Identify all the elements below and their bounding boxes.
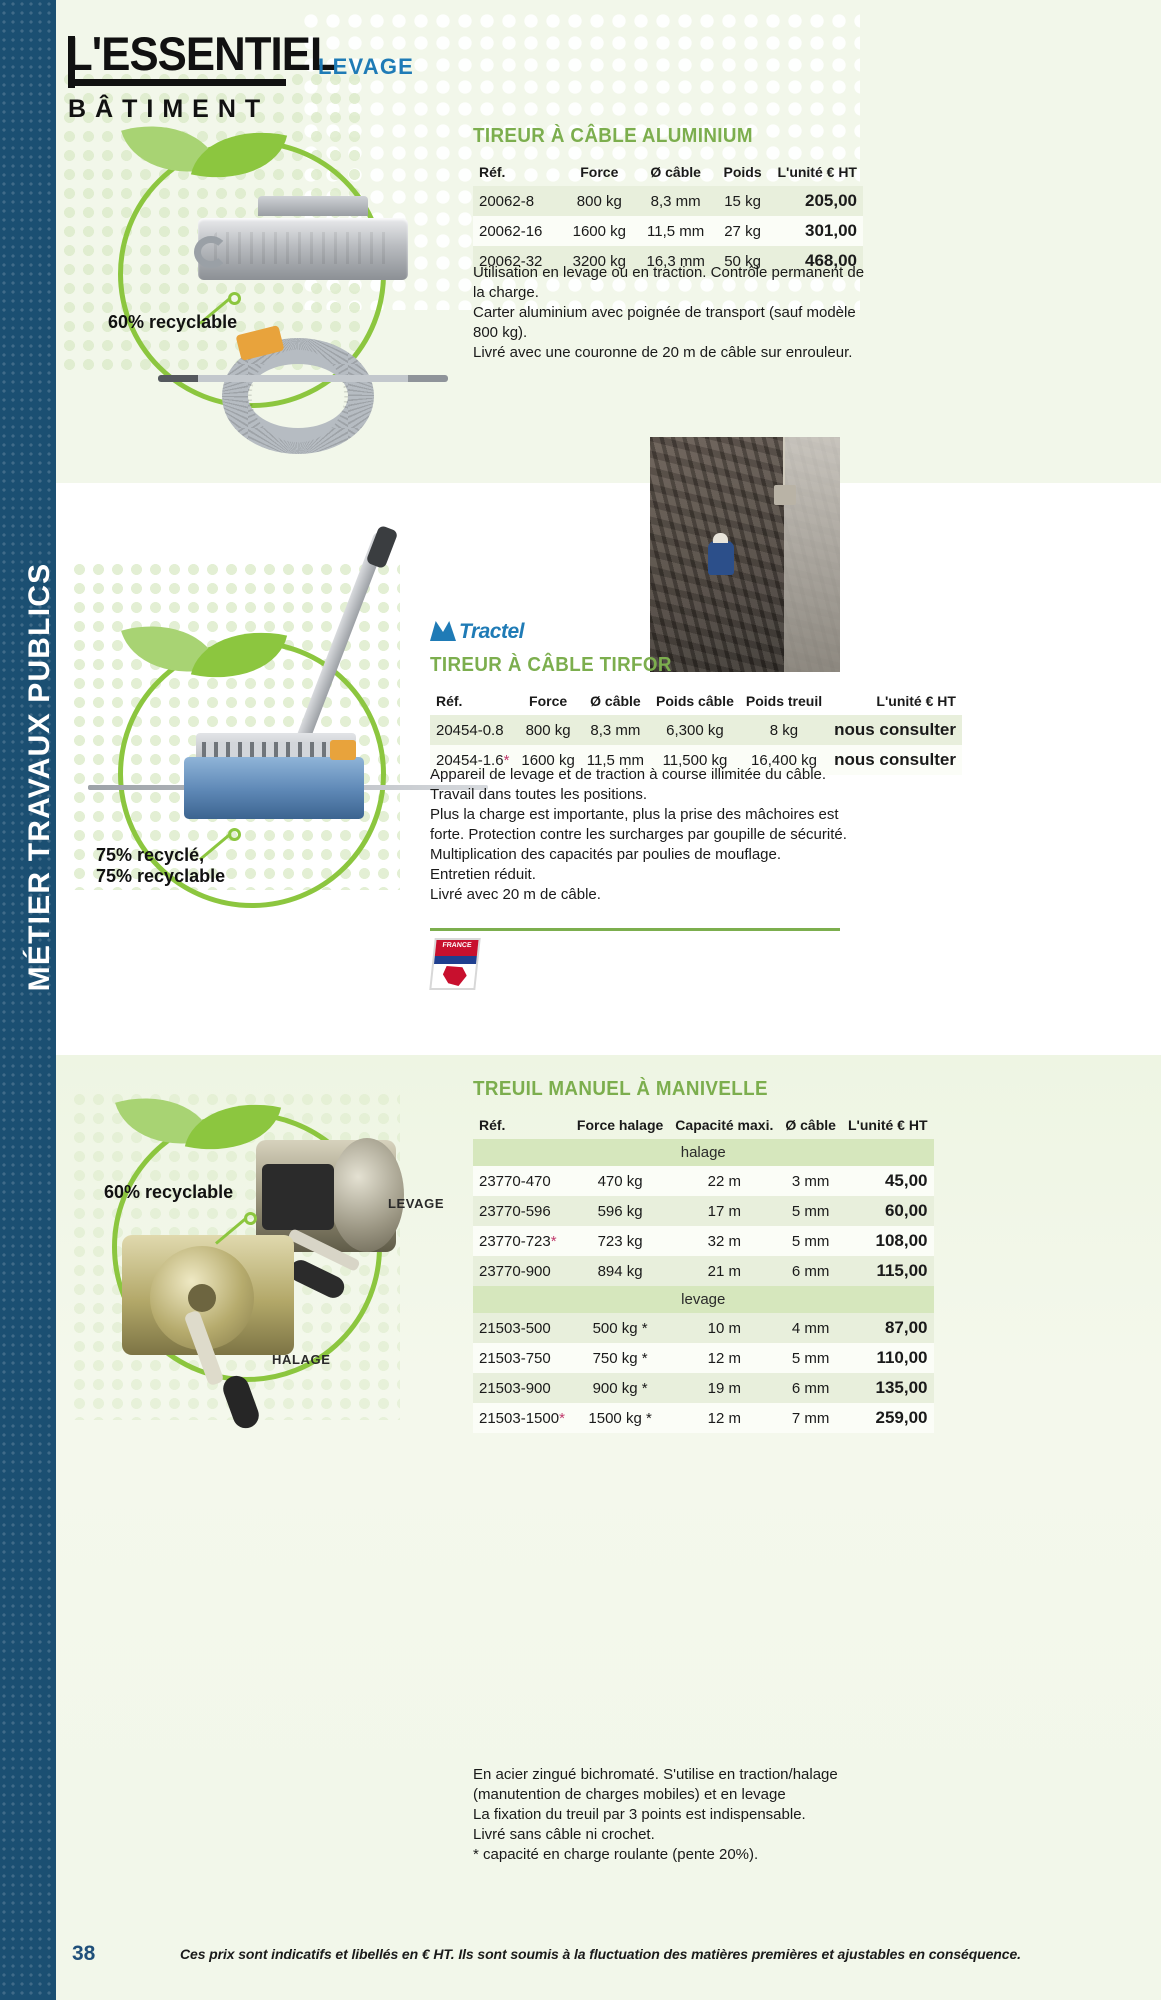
cell-ref-text: 23770-723 <box>479 1233 551 1250</box>
cell-diam: 8,3 mm <box>638 186 714 216</box>
cell-ref-text: 21503-1500 <box>479 1410 559 1427</box>
fr-logo-text: FRANCE <box>436 942 479 949</box>
image-caption-levage: LEVAGE <box>388 1196 444 1211</box>
table-row: 23770-470 470 kg 22 m 3 mm 45,00 <box>473 1166 934 1196</box>
group-label: levage <box>473 1286 934 1313</box>
table-group-row-halage: halage <box>473 1139 934 1166</box>
cell-ref: 21503-900 <box>473 1373 571 1403</box>
cell-price: 205,00 <box>771 186 863 216</box>
product-block-2: Tractel TIREUR À CÂBLE TIRFOR Réf. Force… <box>430 620 850 775</box>
made-in-france-logo: FRANCE <box>429 938 480 990</box>
brand-logo: L'ESSENTIEL BÂTIMENT <box>66 30 356 124</box>
cell-poids: 27 kg <box>714 216 772 246</box>
cell-force: 1500 kg * <box>571 1403 669 1433</box>
cell-force: 900 kg * <box>571 1373 669 1403</box>
spec-table-1: Réf. Force Ø câble Poids L'unité € HT 20… <box>473 160 863 276</box>
cell-diam: 7 mm <box>779 1403 842 1433</box>
cell-price: 87,00 <box>842 1313 934 1343</box>
cell-force: 470 kg <box>571 1166 669 1196</box>
cell-ref: 23770-900 <box>473 1256 571 1286</box>
page-category-label: LEVAGE <box>318 54 414 80</box>
col-poids: Poids <box>714 160 772 186</box>
product-block-1: TIREUR À CÂBLE ALUMINIUM Réf. Force Ø câ… <box>473 125 863 276</box>
cell-price: 259,00 <box>842 1403 934 1433</box>
logo-underline <box>68 79 286 86</box>
image-caption-halage: HALAGE <box>272 1352 331 1367</box>
cell-poids-cable: 6,300 kg <box>650 715 740 745</box>
desc-line: Entretien réduit. <box>430 865 855 885</box>
cell-diam: 4 mm <box>779 1313 842 1343</box>
cell-force: 800 kg <box>515 715 580 745</box>
desc-line: Livré avec 20 m de câble. <box>430 885 855 905</box>
eco-badge-2-line2: 75% recyclable <box>96 866 225 887</box>
logo-main-text: L'ESSENTIEL <box>66 30 336 77</box>
cell-diam: 6 mm <box>779 1373 842 1403</box>
cell-ref: 21503-750 <box>473 1343 571 1373</box>
col-capacite: Capacité maxi. <box>669 1113 779 1139</box>
cell-force: 894 kg <box>571 1256 669 1286</box>
cell-price: nous consulter <box>828 715 962 745</box>
desc-line: (manutention de charges mobiles) et en l… <box>473 1785 893 1805</box>
col-diam: Ø câble <box>638 160 714 186</box>
cell-diam: 3 mm <box>779 1166 842 1196</box>
table-header-row: Réf. Force halage Capacité maxi. Ø câble… <box>473 1113 934 1139</box>
cell-diam: 6 mm <box>779 1256 842 1286</box>
table-row: 20062-16 1600 kg 11,5 mm 27 kg 301,00 <box>473 216 863 246</box>
col-force: Force <box>515 689 580 715</box>
spec-table-2: Réf. Force Ø câble Poids câble Poids tre… <box>430 689 962 775</box>
eco-badge-2: 75% recyclé, 75% recyclable <box>96 845 225 887</box>
cell-poids-treuil: 8 kg <box>740 715 828 745</box>
cell-ref: 23770-596 <box>473 1196 571 1226</box>
table-header-row: Réf. Force Ø câble Poids câble Poids tre… <box>430 689 962 715</box>
col-price: L'unité € HT <box>771 160 863 186</box>
desc-line: En acier zingué bichromaté. S'utilise en… <box>473 1765 893 1785</box>
col-diam: Ø câble <box>581 689 650 715</box>
cell-ref: 20454-0.8 <box>430 715 515 745</box>
cell-price: 135,00 <box>842 1373 934 1403</box>
cell-force: 750 kg * <box>571 1343 669 1373</box>
desc-line: Carter aluminium avec poignée de transpo… <box>473 303 873 343</box>
table-row: 23770-596 596 kg 17 m 5 mm 60,00 <box>473 1196 934 1226</box>
cell-capacite: 21 m <box>669 1256 779 1286</box>
cell-ref: 21503-500 <box>473 1313 571 1343</box>
table-row: 23770-900 894 kg 21 m 6 mm 115,00 <box>473 1256 934 1286</box>
cell-ref: 21503-1500* <box>473 1403 571 1433</box>
cell-diam: 5 mm <box>779 1226 842 1256</box>
table-row: 21503-500 500 kg * 10 m 4 mm 87,00 <box>473 1313 934 1343</box>
footnote-star: * <box>559 1410 565 1427</box>
product-title-2: TIREUR À CÂBLE TIRFOR <box>430 654 825 677</box>
table-header-row: Réf. Force Ø câble Poids L'unité € HT <box>473 160 863 186</box>
col-force: Force <box>561 160 638 186</box>
logo-sub-text: BÂTIMENT <box>68 95 356 124</box>
footnote-star: * <box>551 1233 557 1250</box>
cell-ref: 23770-723* <box>473 1226 571 1256</box>
cell-price: 301,00 <box>771 216 863 246</box>
cell-capacite: 32 m <box>669 1226 779 1256</box>
product-title-3: TREUIL MANUEL À MANIVELLE <box>473 1078 849 1101</box>
cell-ref: 20062-8 <box>473 186 561 216</box>
eco-badge-2-line1: 75% recyclé, <box>96 845 225 866</box>
col-price: L'unité € HT <box>828 689 962 715</box>
fr-logo-hexagon-icon <box>442 966 468 986</box>
desc-line: Travail dans toutes les positions. <box>430 785 855 805</box>
table-row: 21503-750 750 kg * 12 m 5 mm 110,00 <box>473 1343 934 1373</box>
product-description-1: Utilisation en levage ou en traction. Co… <box>473 263 873 363</box>
col-ref: Réf. <box>473 160 561 186</box>
cell-capacite: 17 m <box>669 1196 779 1226</box>
cell-price: 115,00 <box>842 1256 934 1286</box>
tractel-mark-icon <box>430 621 456 641</box>
cell-force: 723 kg <box>571 1226 669 1256</box>
table-row: 23770-723* 723 kg 32 m 5 mm 108,00 <box>473 1226 934 1256</box>
supplier-logo-tractel: Tractel <box>430 620 850 644</box>
footer-price-note: Ces prix sont indicatifs et libellés en … <box>180 1946 1021 1962</box>
cell-force: 500 kg * <box>571 1313 669 1343</box>
desc-line: Livré avec une couronne de 20 m de câble… <box>473 343 873 363</box>
table-row: 20062-8 800 kg 8,3 mm 15 kg 205,00 <box>473 186 863 216</box>
group-label: halage <box>473 1139 934 1166</box>
spec-table-3: Réf. Force halage Capacité maxi. Ø câble… <box>473 1113 934 1433</box>
cell-capacite: 10 m <box>669 1313 779 1343</box>
table-row: 21503-900 900 kg * 19 m 6 mm 135,00 <box>473 1373 934 1403</box>
product-block-3: TREUIL MANUEL À MANIVELLE Réf. Force hal… <box>473 1078 873 1433</box>
cell-force: 800 kg <box>561 186 638 216</box>
cell-capacite: 19 m <box>669 1373 779 1403</box>
product-description-3: En acier zingué bichromaté. S'utilise en… <box>473 1765 893 1865</box>
desc-line: Plus la charge est importante, plus la p… <box>430 805 855 865</box>
col-force: Force halage <box>571 1113 669 1139</box>
catalog-page: MÉTIER TRAVAUX PUBLICS L'ESSENTIEL BÂTIM… <box>0 0 1161 2000</box>
desc-line: Utilisation en levage ou en traction. Co… <box>473 263 873 303</box>
cell-price: 45,00 <box>842 1166 934 1196</box>
col-price: L'unité € HT <box>842 1113 934 1139</box>
col-ref: Réf. <box>473 1113 571 1139</box>
product-title-1: TIREUR À CÂBLE ALUMINIUM <box>473 125 840 148</box>
page-number: 38 <box>72 1942 95 1966</box>
eco-badge-3: 60% recyclable <box>104 1182 233 1203</box>
cell-poids: 15 kg <box>714 186 772 216</box>
cell-diam: 5 mm <box>779 1343 842 1373</box>
desc-line: Livré sans câble ni crochet. <box>473 1825 893 1845</box>
section-rule-2 <box>430 928 840 931</box>
fr-logo-blue-band <box>434 956 477 964</box>
col-poids-treuil: Poids treuil <box>740 689 828 715</box>
product-description-2: Appareil de levage et de traction à cour… <box>430 765 855 905</box>
col-diam: Ø câble <box>779 1113 842 1139</box>
cell-ref: 23770-470 <box>473 1166 571 1196</box>
eco-badge-1: 60% recyclable <box>108 312 237 333</box>
cell-price: 108,00 <box>842 1226 934 1256</box>
cell-force: 1600 kg <box>561 216 638 246</box>
col-ref: Réf. <box>430 689 515 715</box>
cell-price: 110,00 <box>842 1343 934 1373</box>
table-row: 21503-1500* 1500 kg * 12 m 7 mm 259,00 <box>473 1403 934 1433</box>
table-group-row-levage: levage <box>473 1286 934 1313</box>
spine-label: MÉTIER TRAVAUX PUBLICS <box>23 397 57 1157</box>
page-spine: MÉTIER TRAVAUX PUBLICS <box>0 0 56 2000</box>
cell-price: 60,00 <box>842 1196 934 1226</box>
cell-capacite: 22 m <box>669 1166 779 1196</box>
desc-line: La fixation du treuil par 3 points est i… <box>473 1805 893 1825</box>
table-row: 20454-0.8 800 kg 8,3 mm 6,300 kg 8 kg no… <box>430 715 962 745</box>
cell-capacite: 12 m <box>669 1343 779 1373</box>
desc-line: Appareil de levage et de traction à cour… <box>430 765 855 785</box>
col-poids-cable: Poids câble <box>650 689 740 715</box>
cell-diam: 8,3 mm <box>581 715 650 745</box>
cell-ref: 20062-16 <box>473 216 561 246</box>
cell-force: 596 kg <box>571 1196 669 1226</box>
desc-line: * capacité en charge roulante (pente 20%… <box>473 1845 893 1865</box>
cell-capacite: 12 m <box>669 1403 779 1433</box>
cell-diam: 11,5 mm <box>638 216 714 246</box>
cell-diam: 5 mm <box>779 1196 842 1226</box>
